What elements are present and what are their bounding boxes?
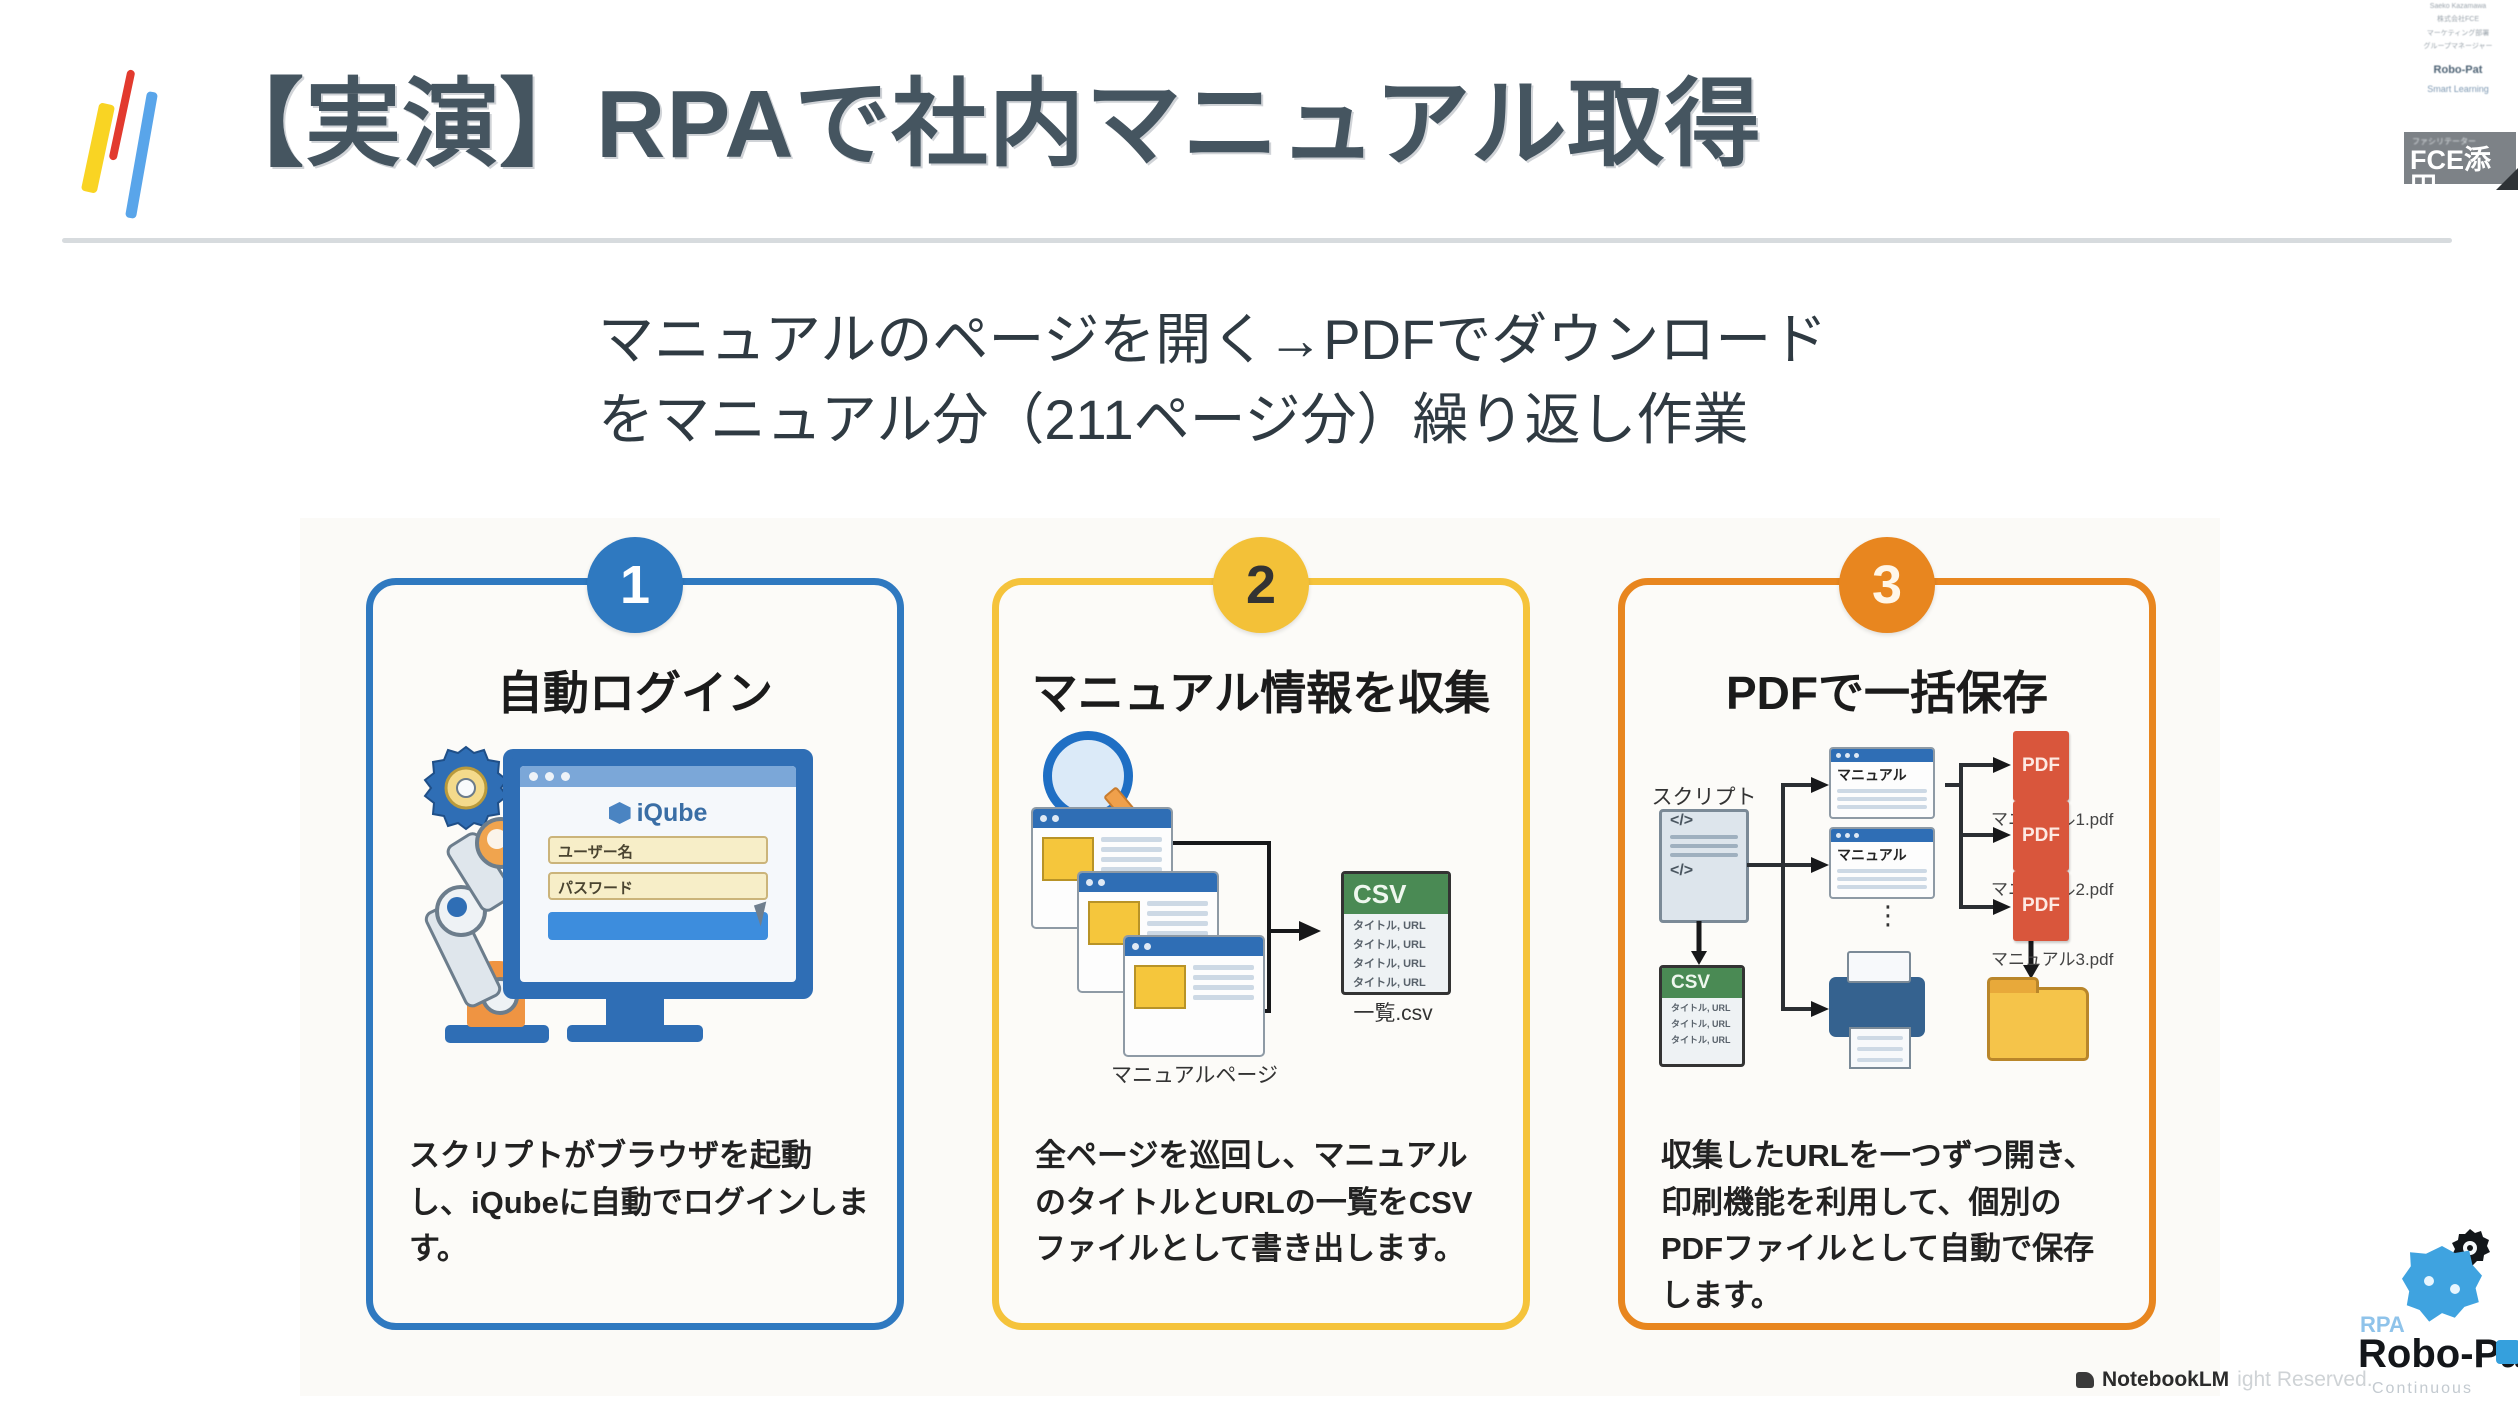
step-title-3: PDFで一括保存 [1625,657,2149,723]
output-folder-icon [1987,987,2089,1061]
csv-row: タイトル, URL [1344,971,1448,990]
namecard-name: FCE添田 [2404,147,2516,201]
csv-row: タイトル, URL [1344,933,1448,952]
manual-page-window [1123,935,1265,1057]
notebooklm-credit: NotebookLM ight Reserved. [2076,1368,2373,1392]
pdf-file-icon: PDF [2013,731,2069,801]
content-thumbnail [1134,965,1186,1009]
window-dot [529,772,538,781]
topright-line1: Saeko Kazamawa [2398,0,2518,13]
step-title-1: 自動ログイン [373,657,897,723]
brand-logo-icon [78,55,168,195]
robopat-logo: RPA Robo-Pat Continuous [2350,1228,2510,1408]
page-title: 【実演】RPAで社内マニュアル取得 [208,46,1762,185]
step-illustration-2: マニュアルページ CSV タイトル, URL タイトル, URL タイトル, U… [999,725,1523,1125]
namecard-role: ファシリテーター [2404,132,2516,147]
csv-row: タイトル, URL [1344,952,1448,971]
ellipsis-vertical-icon: ⋮ [1875,911,1901,920]
window-titlebar [1033,809,1171,828]
step-body-1: スクリプトがブラウザを起動し、iQubeに自動でログインします。 [409,1133,869,1273]
manual-window-title: マニュアル [1831,842,1933,865]
window-dot [561,772,570,781]
step-card-2: 2 マニュアル情報を収集 [992,578,1530,1330]
csv-file-caption: 一覧.csv [1337,997,1449,1027]
topright-line4: グループマネージャー [2398,40,2518,53]
notebooklm-label: NotebookLM [2102,1368,2229,1392]
step-badge-2: 2 [1213,537,1309,633]
window-dot [1144,943,1151,950]
iqube-icon [609,802,631,824]
subtitle-line-2: をマニュアル分（211ページ分）繰り返し作業 [598,380,1938,460]
step-body-3: 収集したURLを一つずつ開き、印刷機能を利用して、個別のPDFファイルとして自動… [1661,1133,2121,1319]
subtitle: マニュアルのページを開く→PDFでダウンロード をマニュアル分（211ページ分）… [598,300,1938,459]
printer-paper-out [1849,1027,1911,1069]
logo-bar-blue [125,91,158,219]
robopat-tagline: Continuous [2372,1380,2473,1398]
monitor-neck [606,999,664,1025]
window-dot [1132,943,1139,950]
username-field[interactable]: ユーザー名 [548,836,768,864]
topright-line3: マーケティング部署 [2398,27,2518,40]
step-illustration-1: iQube ユーザー名 パスワード [373,725,897,1125]
printer-paper-in [1847,951,1911,983]
manual-window: マニュアル [1829,747,1935,819]
iqube-logo: iQube [520,799,796,828]
robopat-name: Robo-Pat [2358,1332,2518,1377]
step-illustration-3: スクリプト </> </> CSV タイトル, URL タイトル, URL タイ… [1625,725,2149,1125]
window-titlebar [1079,873,1217,892]
pdf-file-caption: マニュアル3.pdf [1991,945,2113,970]
presenter-namecard: ファシリテーター FCE添田 [2404,132,2516,184]
password-field[interactable]: パスワード [548,872,768,900]
browser-window: iQube ユーザー名 パスワード [520,766,796,982]
topright-robopat-logo: Robo-Pat [2398,60,2518,81]
window-dot [1052,815,1059,822]
manual-pages-caption: マニュアルページ [1111,1059,1273,1089]
login-monitor: iQube ユーザー名 パスワード [503,749,813,999]
window-dot [1098,879,1105,886]
topright-smartlearning-logo: Smart Learning [2398,81,2518,98]
robopat-mascot-icon [2402,1246,2482,1324]
window-titlebar [1831,829,1933,842]
printer-icon [1829,977,1925,1037]
browser-titlebar [520,766,796,787]
step-badge-1: 1 [587,537,683,633]
step-badge-3: 3 [1839,537,1935,633]
csv-row: タイトル, URL [1344,914,1448,933]
csv-file-label: CSV [1344,874,1448,914]
csv-file-icon: CSV タイトル, URL タイトル, URL タイトル, URL タイトル, … [1341,871,1451,995]
step-title-2: マニュアル情報を収集 [999,657,1523,723]
step-card-3: 3 PDFで一括保存 スクリプト </> </> CSV タイトル, URL タ… [1618,578,2156,1330]
pdf-file-icon: PDF [2013,801,2069,871]
manual-window-title: マニュアル [1831,762,1933,785]
step-body-2: 全ページを巡回し、マニュアルのタイトルとURLの一覧をCSVファイルとして書き出… [1035,1133,1495,1273]
pdf-file-icon: PDF [2013,871,2069,941]
slide-root: Saeko Kazamawa 株式会社FCE マーケティング部署 グループマネー… [0,0,2518,1418]
robopat-square-icon [2496,1340,2518,1364]
iqube-label: iQube [637,799,708,827]
window-titlebar [1831,749,1933,762]
window-dot [1086,879,1093,886]
monitor-base [567,1025,703,1042]
login-submit-button[interactable] [548,912,768,940]
topright-line2: 株式会社FCE [2398,13,2518,26]
notebooklm-icon [2076,1372,2094,1388]
content-lines [1193,965,1254,1009]
window-titlebar [1125,937,1263,956]
subtitle-line-1: マニュアルのページを開く→PDFでダウンロード [598,300,1938,380]
window-dot [1040,815,1047,822]
window-content [1125,956,1263,1018]
manual-window: マニュアル [1829,827,1935,899]
step-card-1: 1 自動ログイン [366,578,904,1330]
title-divider [62,238,2452,243]
window-dot [545,772,554,781]
